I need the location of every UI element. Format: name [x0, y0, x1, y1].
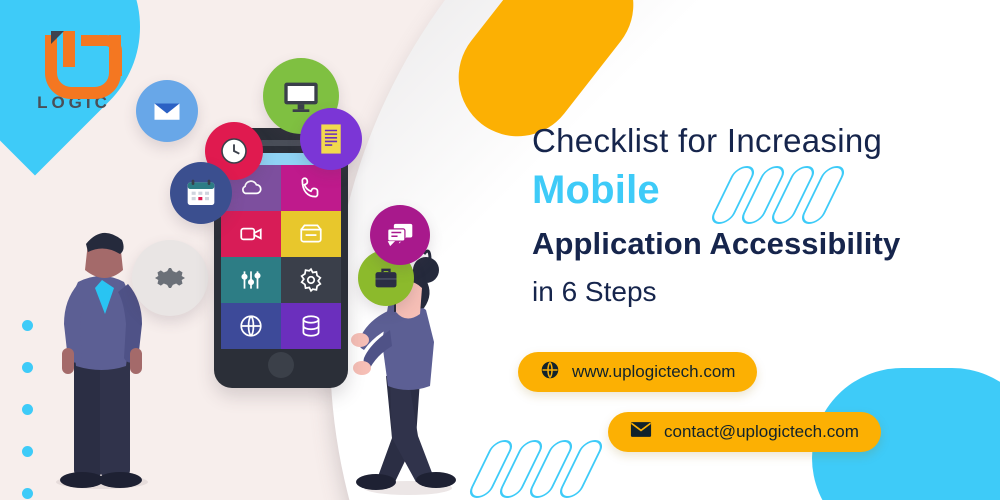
dot-column-decoration: [22, 320, 33, 500]
brand-logo[interactable]: LOGIC: [18, 16, 130, 128]
app-tile-phone[interactable]: [281, 165, 341, 211]
app-tile-video[interactable]: [221, 211, 281, 257]
phone-speaker: [259, 140, 303, 146]
app-tile-globe[interactable]: [221, 303, 281, 349]
email-pill-button[interactable]: contact@uplogictech.com: [608, 412, 881, 452]
website-label: www.uplogictech.com: [572, 362, 735, 382]
headline-line-4: in 6 Steps: [532, 276, 657, 308]
headline-line-3: Application Accessibility: [532, 226, 900, 262]
marketing-banner: LOGIC: [0, 0, 1000, 500]
floating-chat-icon: [370, 205, 430, 265]
up-logic-monogram-icon: [37, 31, 111, 91]
globe-icon: [540, 360, 560, 385]
app-tile-grid: [221, 165, 341, 349]
phone-screen: [221, 153, 341, 349]
headline-highlight-mobile: Mobile: [532, 168, 660, 213]
website-pill-button[interactable]: www.uplogictech.com: [518, 352, 757, 392]
app-tile-gear[interactable]: [281, 257, 341, 303]
app-tile-sliders[interactable]: [221, 257, 281, 303]
floating-gear-icon: [132, 240, 208, 316]
floating-envelope-icon: [136, 80, 198, 142]
envelope-icon: [630, 421, 652, 443]
headline-line-1: Checklist for Increasing: [532, 122, 882, 160]
email-label: contact@uplogictech.com: [664, 422, 859, 442]
floating-calendar-icon: [170, 162, 232, 224]
app-tile-inbox[interactable]: [281, 211, 341, 257]
phone-home-button[interactable]: [268, 352, 294, 378]
floating-document-icon: [300, 108, 362, 170]
text-content-panel: Checklist for Increasing Mobile Applicat…: [530, 0, 990, 500]
app-tile-database[interactable]: [281, 303, 341, 349]
